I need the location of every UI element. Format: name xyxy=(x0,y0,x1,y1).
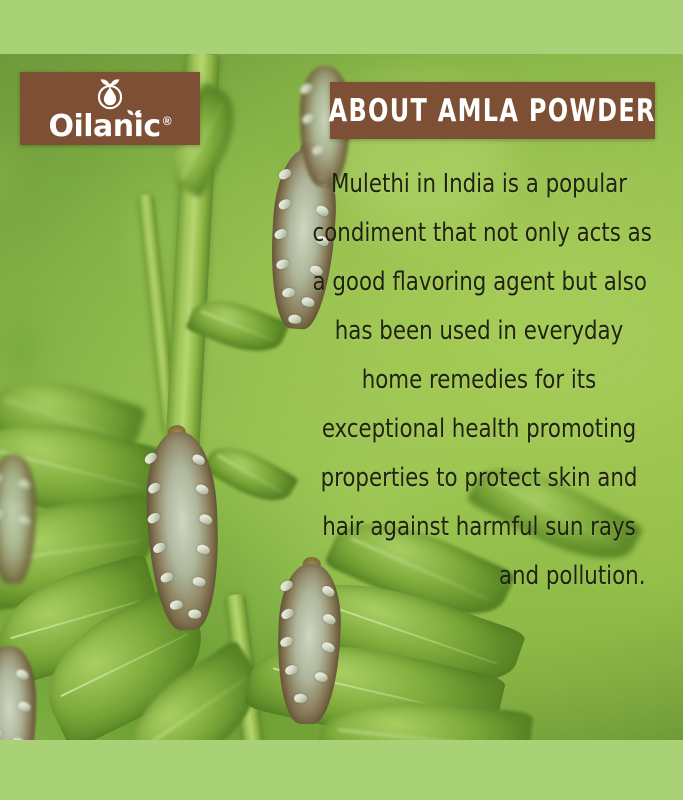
brand-logo-banner[interactable]: Oilanic ® xyxy=(20,72,200,145)
leaf-accent-icon xyxy=(126,106,142,116)
paragraph-line: condiment that not only acts as xyxy=(313,209,646,258)
paragraph-line: and pollution. xyxy=(313,552,646,601)
paragraph-line: Mulethi in India is a popular xyxy=(313,160,646,209)
spike-core xyxy=(0,646,36,740)
paragraph-line: properties to protect skin and xyxy=(313,454,646,503)
flower-spike xyxy=(0,454,36,584)
page-title: ABOUT AMLA POWDER xyxy=(329,93,656,129)
paragraph-line: home remedies for its xyxy=(313,356,646,405)
paragraph-line: a good flavoring agent but also xyxy=(313,258,646,307)
brand-wordmark: Oilanic ® xyxy=(48,112,171,142)
section-title-banner: ABOUT AMLA POWDER xyxy=(330,82,655,139)
brand-logo: Oilanic ® xyxy=(48,75,171,142)
flower-spike xyxy=(0,646,36,740)
paragraph-line: exceptional health promoting xyxy=(313,405,646,454)
about-paragraph: Mulethi in India is a popular condiment … xyxy=(300,160,658,601)
paragraph-line: hair against harmful sun rays xyxy=(313,503,646,552)
paragraph-line: has been used in everyday xyxy=(313,307,646,356)
flower-spike xyxy=(143,430,223,631)
registered-mark: ® xyxy=(163,115,172,127)
spike-core xyxy=(143,430,223,631)
brand-name: Oilanic xyxy=(48,112,160,142)
oil-drop-leaf-icon xyxy=(90,75,130,111)
poster-canvas: Oilanic ® ABOUT AMLA POWDER Mulethi in I… xyxy=(0,0,683,800)
